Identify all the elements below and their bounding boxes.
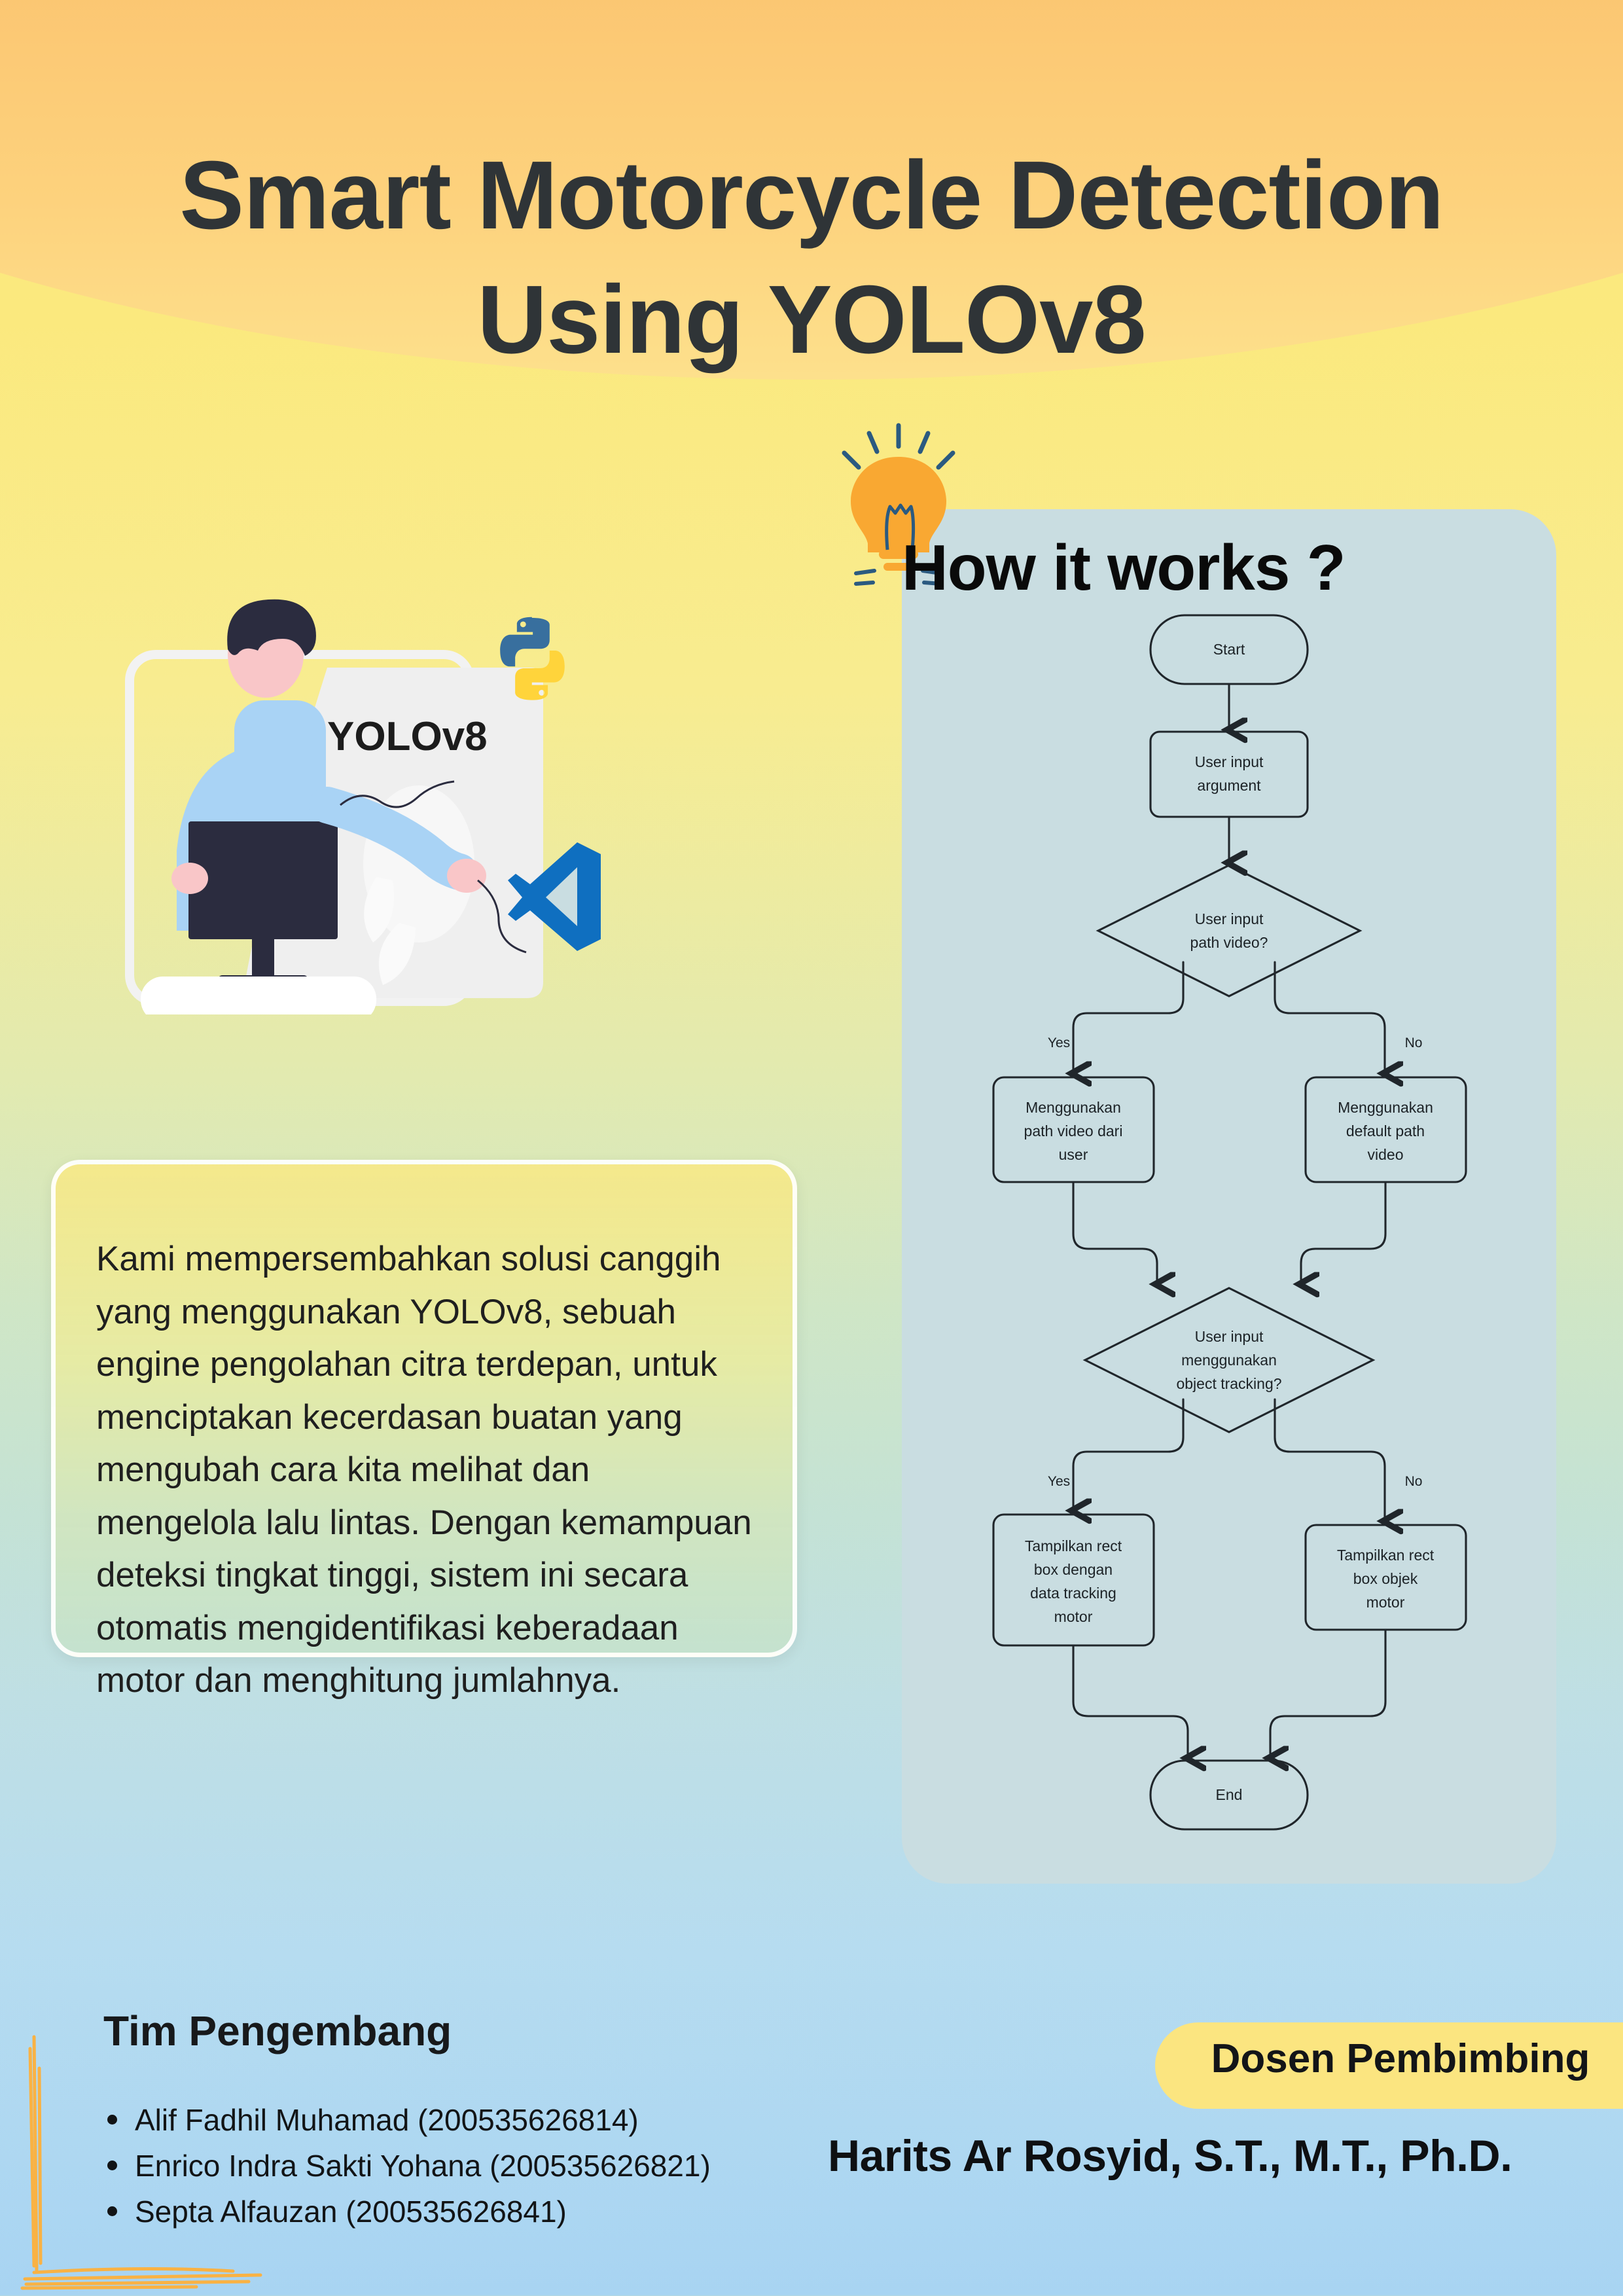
list-item: Enrico Indra Sakti Yohana (200535626821) bbox=[135, 2144, 711, 2189]
flow-node-path-user-line1: Menggunakan bbox=[1026, 1099, 1121, 1116]
flow-edge-label-yes-1: Yes bbox=[1048, 1035, 1070, 1050]
flow-node-path-default-line1: Menggunakan bbox=[1338, 1099, 1433, 1116]
project-description-text: Kami mempersembahkan solusi canggih yang… bbox=[96, 1233, 752, 1708]
flow-node-decision-path-line1: User input bbox=[1195, 910, 1264, 927]
supervisor-badge-label: Dosen Pembimbing bbox=[1185, 2036, 1616, 2082]
flow-node-decision-path-line2: path video? bbox=[1190, 934, 1268, 951]
flow-node-rect-tracking-line4: motor bbox=[1054, 1608, 1093, 1625]
how-it-works-heading: How it works ? bbox=[902, 531, 1346, 605]
flow-node-rect-objek-line1: Tampilkan rect bbox=[1337, 1547, 1435, 1564]
flow-edge-label-no-2: No bbox=[1405, 1474, 1423, 1489]
flow-node-input-argument-line2: argument bbox=[1197, 777, 1261, 794]
flow-node-rect-objek-line2: box objek bbox=[1353, 1570, 1418, 1587]
flow-node-path-default-line2: default path bbox=[1346, 1122, 1425, 1139]
flow-node-path-user-line2: path video dari bbox=[1024, 1122, 1123, 1139]
flow-node-rect-objek-line3: motor bbox=[1366, 1594, 1405, 1611]
flow-node-path-user-line3: user bbox=[1059, 1146, 1088, 1163]
supervisor-name: Harits Ar Rosyid, S.T., M.T., Ph.D. bbox=[828, 2130, 1512, 2181]
flow-node-start: Start bbox=[1213, 641, 1245, 658]
flow-node-rect-tracking-line1: Tampilkan rect bbox=[1025, 1537, 1122, 1554]
flow-node-decision-tracking-line2: menggunakan bbox=[1181, 1352, 1277, 1369]
team-member-list: Alif Fadhil Muhamad (200535626814) Enric… bbox=[97, 2098, 711, 2235]
list-item: Alif Fadhil Muhamad (200535626814) bbox=[135, 2098, 711, 2144]
title-line-2: Using YOLOv8 bbox=[0, 258, 1623, 382]
process-flowchart: Start User input argument User input pat… bbox=[902, 589, 1556, 1865]
page-title: Smart Motorcycle Detection Using YOLOv8 bbox=[0, 134, 1623, 382]
flow-edge-label-no-1: No bbox=[1405, 1035, 1423, 1050]
flow-node-decision-tracking-line3: object tracking? bbox=[1176, 1375, 1281, 1392]
team-heading: Tim Pengembang bbox=[103, 2007, 452, 2055]
developer-illustration bbox=[111, 589, 635, 1014]
project-description-card: Kami mempersembahkan solusi canggih yang… bbox=[51, 1160, 797, 1657]
title-line-1: Smart Motorcycle Detection bbox=[179, 141, 1443, 249]
flow-node-decision-tracking-line1: User input bbox=[1195, 1328, 1264, 1345]
flow-node-end: End bbox=[1216, 1786, 1243, 1803]
flow-node-rect-tracking-line2: box dengan bbox=[1034, 1561, 1113, 1578]
flow-node-input-argument-line1: User input bbox=[1195, 753, 1264, 770]
flow-edge-label-yes-2: Yes bbox=[1048, 1474, 1070, 1489]
list-item: Septa Alfauzan (200535626841) bbox=[135, 2189, 711, 2235]
yolov8-badge-label: YOLOv8 bbox=[327, 713, 488, 760]
flow-node-rect-tracking-line3: data tracking bbox=[1030, 1585, 1116, 1602]
flow-node-path-default-line3: video bbox=[1368, 1146, 1404, 1163]
